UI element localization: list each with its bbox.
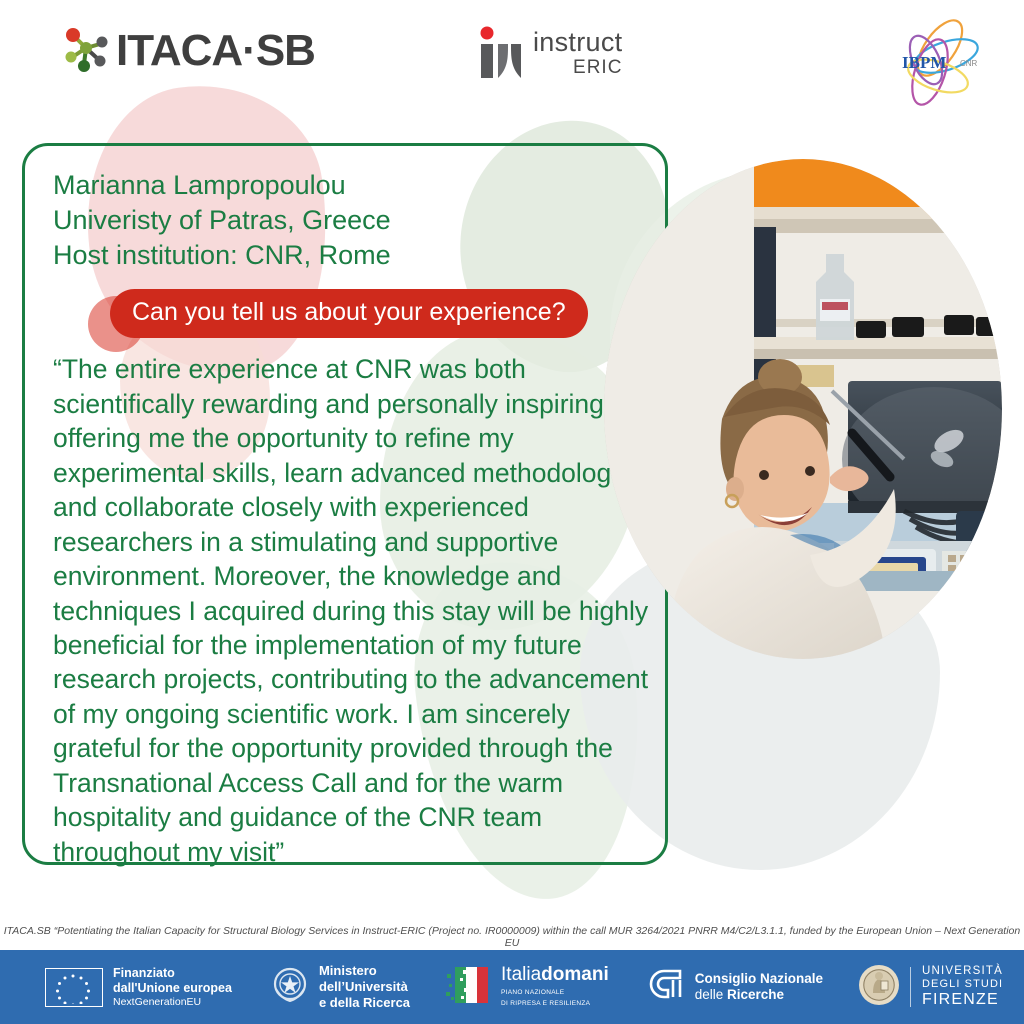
mur-ministry-logo: Ministero dell’Università e della Ricerc… [270,963,410,1011]
itaca-sb-logo: ITACA·SB [60,22,315,79]
unifi-line-2: DEGLI STUDI [922,978,1003,990]
project-disclaimer: ITACA.SB “Potentiating the Italian Capac… [0,925,1024,949]
cnr-line-2: delle Ricerche [695,987,823,1003]
cnr-text: CNR [960,59,978,68]
mur-line-2: dell’Università [319,979,410,995]
eu-flag-icon [45,968,103,1007]
italiadomani-wordmark: Italiadomani [501,965,609,986]
testimonial-card: Marianna Lampropoulou Univeristy of Patr… [22,143,668,865]
eu-line-2: dall'Unione europea [113,981,232,996]
unifi-crest-icon [857,963,901,1012]
cnr-line-2-light: delle [695,987,727,1002]
mur-line-1: Ministero [319,963,410,979]
researcher-photo [604,159,1002,659]
unifi-logo: UNIVERSITÀ DEGLI STUDI FIRENZE [857,963,1003,1012]
italiadomani-bold: domani [541,964,609,985]
italiadomani-sub-1: PIANO NAZIONALE [501,989,609,998]
instruct-wordmark: instruct [533,29,622,56]
funders-footer: Finanziato dall'Unione europea NextGener… [0,950,1024,1024]
unifi-line-1: UNIVERSITÀ [922,965,1003,978]
cnr-logo: Consiglio Nazionale delle Ricerche [647,965,823,1010]
italiadomani-logo: Italiadomani PIANO NAZIONALE DI RIPRESA … [445,964,609,1011]
instruct-eric-logo: instruct ERIC [478,26,622,85]
italian-flag-icon [445,964,493,1011]
ibpm-cnr-logo: IBPM CNR [880,14,990,114]
header-logo-bar: ITACA·SB instruct ERIC IBPM [0,0,1024,118]
molecule-icon [60,22,112,79]
eu-line-3: NextGenerationEU [113,996,232,1008]
testimonial-quote: “The entire experience at CNR was both s… [53,352,653,869]
cnr-spiral-icon [647,965,685,1010]
person-name: Marianna Lampropoulou [53,168,639,203]
lab-photo-illustration [604,159,1002,659]
cnr-line-2-bold: Ricerche [727,987,784,1002]
italian-republic-emblem-icon [270,963,310,1010]
unifi-divider [910,967,911,1007]
ibpm-text: IBPM [902,53,946,72]
instruct-mark-icon [478,26,524,85]
italiadomani-light: Italia [501,964,541,985]
unifi-line-3: FIRENZE [922,991,1003,1009]
mur-line-3: e della Ricerca [319,995,410,1011]
person-host-institution: Host institution: CNR, Rome [53,238,639,273]
person-affiliation: Univeristy of Patras, Greece [53,203,639,238]
eu-funding-logo: Finanziato dall'Unione europea NextGener… [45,966,232,1008]
eric-wordmark: ERIC [573,58,622,77]
question-badge: Can you tell us about your experience? [110,289,588,338]
itaca-sb-wordmark: ITACA·SB [116,26,315,76]
eu-line-1: Finanziato [113,966,232,981]
cnr-line-1: Consiglio Nazionale [695,971,823,987]
italiadomani-sub-2: DI RIPRESA E RESILIENZA [501,1000,609,1009]
